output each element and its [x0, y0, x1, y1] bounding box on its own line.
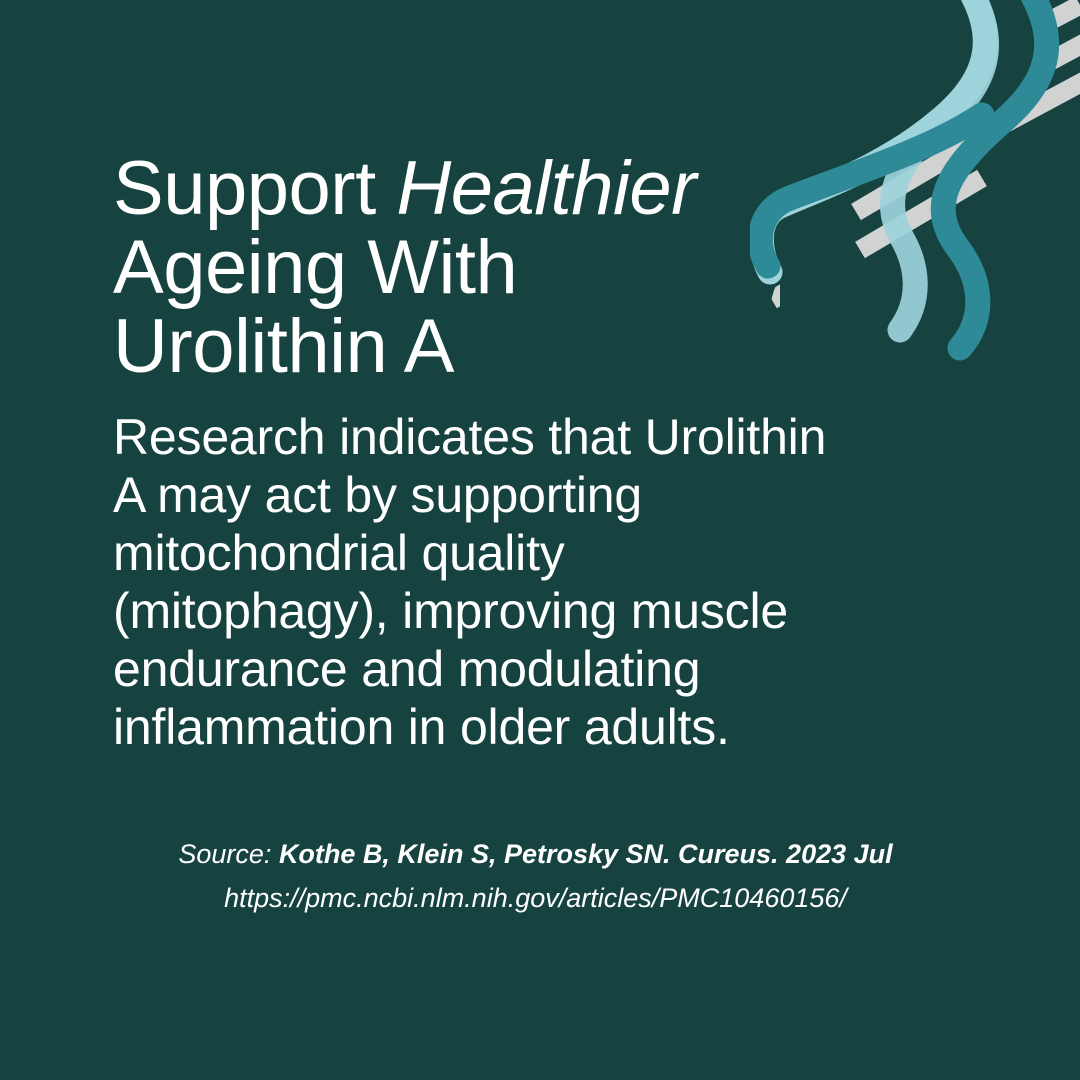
headline-emphasis: Healthier [396, 146, 696, 231]
headline-line-2: Ageing With [113, 228, 813, 307]
dna-strand-light-lower [893, 0, 987, 330]
body-paragraph: Research indicates that Urolithin A may … [113, 408, 958, 756]
headline-line-3: Urolithin A [113, 307, 813, 386]
dna-strand-dark [943, 0, 1046, 348]
body-line-6: inflammation in older adults. [113, 698, 958, 756]
headline-line-1: Support Healthier [113, 149, 813, 228]
source-url[interactable]: https://pmc.ncbi.nlm.nih.gov/articles/PM… [113, 876, 958, 920]
dna-rungs-upper [963, 0, 1080, 138]
source-citation: Kothe B, Klein S, Petrosky SN. Cureus. 2… [279, 839, 893, 869]
body-line-2: A may act by supporting [113, 466, 958, 524]
source-block: Source: Kothe B, Klein S, Petrosky SN. C… [113, 832, 958, 920]
body-line-4: (mitophagy), improving muscle [113, 582, 958, 640]
body-line-1: Research indicates that Urolithin [113, 408, 958, 466]
headline-prefix: Support [113, 146, 396, 231]
dna-rungs-middle [850, 103, 982, 250]
infographic-card: Support Healthier Ageing With Urolithin … [0, 0, 1080, 1080]
page-title: Support Healthier Ageing With Urolithin … [113, 149, 813, 386]
body-line-3: mitochondrial quality [113, 524, 958, 582]
source-label: Source: [178, 839, 271, 869]
source-citation-line: Source: Kothe B, Klein S, Petrosky SN. C… [113, 832, 958, 876]
body-line-5: endurance and modulating [113, 640, 958, 698]
